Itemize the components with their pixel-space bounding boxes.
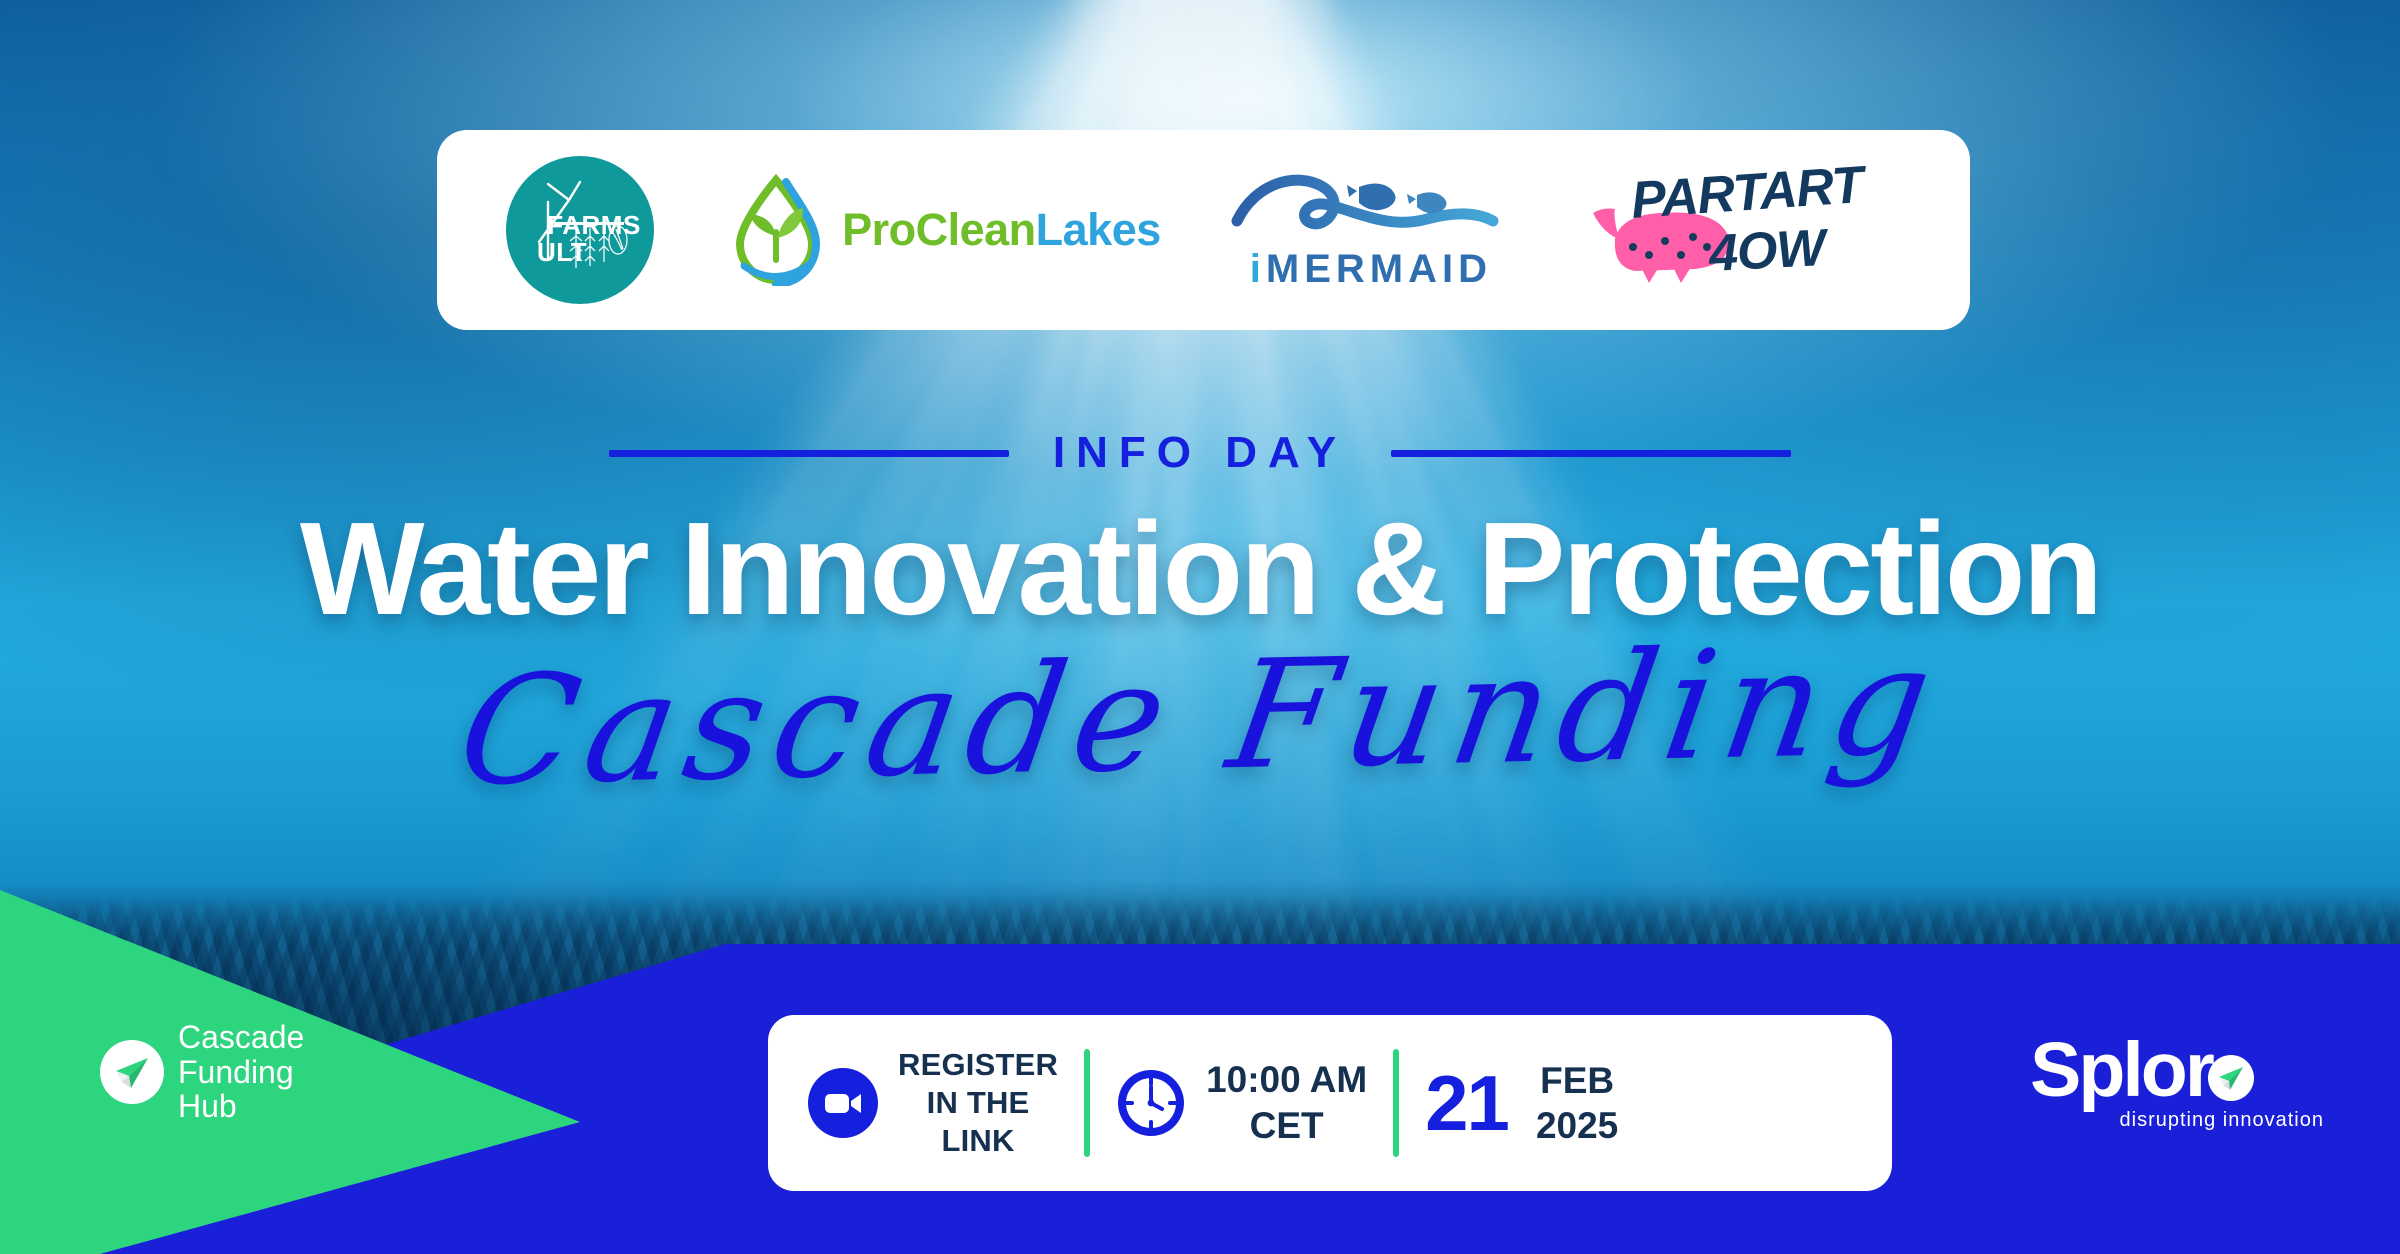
- time-item: 10:00 AM CET: [1116, 1057, 1367, 1150]
- partner-logo-strip: FARMS ULT ProCleanLakes: [437, 130, 1970, 330]
- register-item[interactable]: REGISTER IN THE LINK: [808, 1046, 1058, 1159]
- cfh-wordmark: Cascade Funding Hub: [178, 1020, 304, 1124]
- cfh-line1: Cascade: [178, 1020, 304, 1055]
- imermaid-wordmark: iMERMAID: [1250, 247, 1492, 292]
- sploro-wordmark-row: Splor: [2030, 1034, 2330, 1107]
- partart-block: PARTART 4OW: [1581, 155, 1901, 305]
- divider-1: [1084, 1049, 1090, 1157]
- logo-imermaid: iMERMAID: [1231, 169, 1511, 292]
- cascade-funding-hub-logo: Cascade Funding Hub: [100, 1020, 304, 1124]
- date-month-year: FEB 2025: [1536, 1058, 1618, 1148]
- ultfarms-line2: ULT: [506, 239, 618, 266]
- date-year: 2025: [1536, 1103, 1618, 1148]
- logo-partart4ow: PARTART 4OW: [1581, 155, 1901, 305]
- time-line2: CET: [1206, 1103, 1367, 1149]
- procleanlakes-word-b: Lakes: [1036, 204, 1161, 255]
- imermaid-word-rest: MERMAID: [1266, 247, 1492, 291]
- clock-icon: [1116, 1068, 1186, 1138]
- sploro-paper-plane-badge: [2208, 1055, 2254, 1101]
- time-label: 10:00 AM CET: [1206, 1057, 1367, 1150]
- wave-fish-icon: [1231, 169, 1511, 245]
- cfh-line2: Funding: [178, 1055, 304, 1090]
- eyebrow-rule-right: [1391, 450, 1791, 457]
- paper-plane-icon: [100, 1040, 164, 1104]
- eyebrow-row: INFO DAY: [0, 428, 2400, 478]
- procleanlakes-wordmark: ProCleanLakes: [842, 204, 1161, 256]
- cfh-badge: [100, 1040, 164, 1104]
- sploro-word: Splor: [2030, 1034, 2212, 1107]
- paper-plane-icon: [2208, 1055, 2254, 1101]
- divider-2: [1393, 1049, 1399, 1157]
- register-line2: IN THE: [898, 1084, 1058, 1122]
- eyebrow-label: INFO DAY: [1053, 428, 1347, 478]
- sploro-logo: Splor disrupting innovation: [2030, 1034, 2330, 1132]
- date-day: 21: [1425, 1058, 1508, 1149]
- register-label: REGISTER IN THE LINK: [898, 1046, 1058, 1159]
- video-camera-glyph: [823, 1089, 863, 1117]
- cfh-line3: Hub: [178, 1089, 304, 1124]
- ultfarms-badge: FARMS ULT: [506, 156, 654, 304]
- event-details-card: REGISTER IN THE LINK: [768, 1015, 1892, 1191]
- video-camera-icon[interactable]: [808, 1068, 878, 1138]
- logo-procleanlakes: ProCleanLakes: [724, 174, 1161, 286]
- partart-line2: 4OW: [1707, 218, 1825, 284]
- imermaid-word-i: i: [1250, 247, 1266, 291]
- time-line1: 10:00 AM: [1206, 1057, 1367, 1103]
- event-banner: FARMS ULT ProCleanLakes: [0, 0, 2400, 1254]
- water-drop-leaf-icon: [724, 174, 828, 286]
- ultfarms-wordmark: FARMS ULT: [506, 212, 654, 265]
- register-line1: REGISTER: [898, 1046, 1058, 1084]
- ultfarms-line1: FARMS: [534, 212, 654, 239]
- date-month: FEB: [1536, 1058, 1618, 1103]
- procleanlakes-word-a: ProClean: [842, 204, 1036, 255]
- register-line3: LINK: [898, 1122, 1058, 1160]
- eyebrow-rule-left: [609, 450, 1009, 457]
- logo-ultfarms: FARMS ULT: [506, 156, 654, 304]
- date-item: 21 FEB 2025: [1425, 1058, 1618, 1149]
